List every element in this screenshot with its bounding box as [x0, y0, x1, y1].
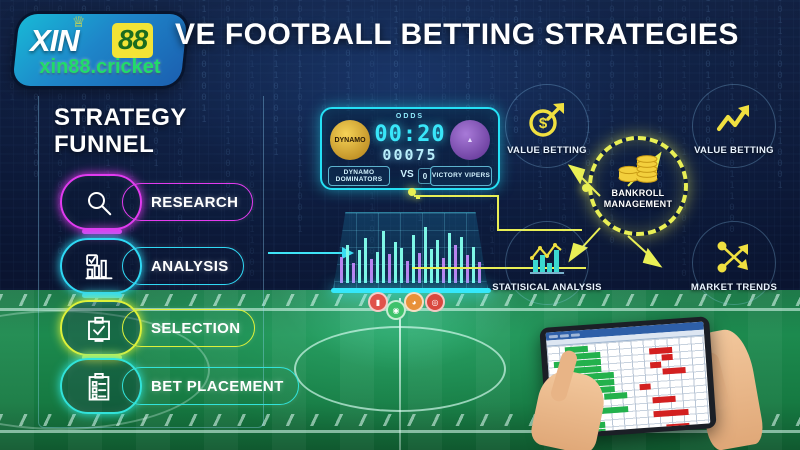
step-label-box: RESEARCH: [122, 183, 253, 221]
match-scoreboard: ODDS 00:20 00075 DYNAMO ▲ DYNAMO DOMINAT…: [320, 107, 500, 190]
home-team-badge: DYNAMO: [330, 120, 370, 160]
candlestick-bar: [394, 242, 397, 283]
home-team-chip: DYNAMO DOMINATORS: [328, 166, 390, 186]
funnel-heading-line1: STRATEGY: [54, 105, 244, 132]
node-label: STATISICAL ANALYSIS: [482, 282, 612, 293]
hub-label: BANKROLL MANAGEMENT: [574, 188, 702, 211]
dollar-coin-arrow-icon: $: [526, 99, 568, 141]
step-label: SELECTION: [151, 320, 240, 337]
funnel-step-selection[interactable]: SELECTION: [60, 300, 258, 356]
zigzag-arrow-icon: [713, 99, 755, 141]
node-value-betting-right[interactable]: VALUE BETTING: [692, 84, 776, 168]
odds-label: ODDS: [322, 113, 498, 120]
spreadsheet-cell-red: [666, 423, 689, 431]
checklist-icon: [84, 372, 114, 402]
node-value-betting-left[interactable]: $ VALUE BETTING: [505, 84, 589, 168]
candlestick-bar: [364, 238, 367, 283]
funnel-step-research[interactable]: RESEARCH: [60, 174, 252, 230]
clipboard-check-icon: [84, 314, 114, 344]
candlestick-bar: [370, 259, 373, 283]
step-label-box: SELECTION: [122, 309, 255, 347]
spreadsheet-cell-red: [661, 354, 672, 361]
step-label: BET PLACEMENT: [151, 378, 284, 395]
node-label: VALUE BETTING: [482, 145, 612, 156]
node-label: MARKET TRENDS: [669, 282, 799, 293]
candlestick-bar: [388, 254, 391, 283]
hub-label-line2: MANAGEMENT: [574, 199, 702, 210]
logo-wordmark: XIN: [30, 23, 79, 59]
home-badge-text: DYNAMO: [330, 120, 370, 160]
candlestick-bar: [352, 263, 355, 283]
crossed-arrows-icon: [713, 236, 755, 278]
page-title: VE FOOTBALL BETTING STRATEGIES: [175, 18, 790, 52]
pitch-center-circle: [294, 326, 506, 412]
hub-label-line1: BANKROLL: [574, 188, 702, 199]
vs-label: VS: [396, 169, 418, 180]
step-label: ANALYSIS: [151, 258, 229, 275]
home-team-name: DYNAMO DOMINATORS: [329, 169, 389, 184]
step-label: RESEARCH: [151, 194, 238, 211]
magnifier-icon: [84, 188, 114, 218]
step-label-box: BET PLACEMENT: [122, 367, 299, 405]
red-card-icon: ▮: [368, 292, 388, 312]
hub-route-dot-left: [408, 188, 416, 196]
candlestick-bar: [340, 257, 343, 283]
candlestick-bar: [376, 252, 379, 283]
matrix-digit-column: 0 0 0 0 1 1 1 0 0 0: [438, 0, 450, 104]
candlestick-bar: [346, 245, 349, 283]
candlestick-bar: [358, 250, 361, 283]
candlestick-bar: [400, 248, 403, 283]
logo-number: 88: [112, 23, 153, 58]
away-team-chip: VICTORY VIPERS: [430, 166, 492, 186]
ball-icon: ◉: [386, 300, 406, 320]
step-connector-bar: [82, 293, 122, 298]
infographic-canvas: 0 0 1 1 1 0 0 0 0 1 0 0 1 1 1 1 0 0 0 0 …: [0, 0, 800, 450]
spreadsheet-cell-red: [639, 383, 650, 390]
svg-text:$: $: [539, 115, 548, 132]
away-team-name: VICTORY VIPERS: [432, 172, 490, 179]
node-label: VALUE BETTING: [669, 145, 799, 156]
funnel-step-bet-placement[interactable]: BET PLACEMENT: [60, 358, 260, 414]
coins-stack-icon: [615, 150, 661, 184]
node-statistical-analysis[interactable]: STATISICAL ANALYSIS: [505, 221, 589, 305]
bar-line-chart-icon: [526, 236, 568, 278]
funnel-heading-line2: FUNNEL: [54, 132, 244, 159]
funnel-step-analysis[interactable]: ANALYSIS: [60, 238, 245, 294]
step-connector-bar: [82, 229, 122, 234]
spreadsheet-cell-red: [650, 362, 661, 369]
candlestick-bar: [382, 231, 385, 283]
node-market-trends[interactable]: MARKET TRENDS: [692, 221, 776, 305]
step-label-box: ANALYSIS: [122, 247, 244, 285]
logo-domain: xin88.cricket: [16, 56, 184, 79]
bar-chart-icon: [84, 252, 114, 282]
candlestick-bar: [406, 261, 409, 283]
funnel-heading: STRATEGY FUNNEL: [54, 105, 244, 159]
brand-logo[interactable]: ♕ XIN 88 xin88.cricket: [12, 14, 188, 86]
